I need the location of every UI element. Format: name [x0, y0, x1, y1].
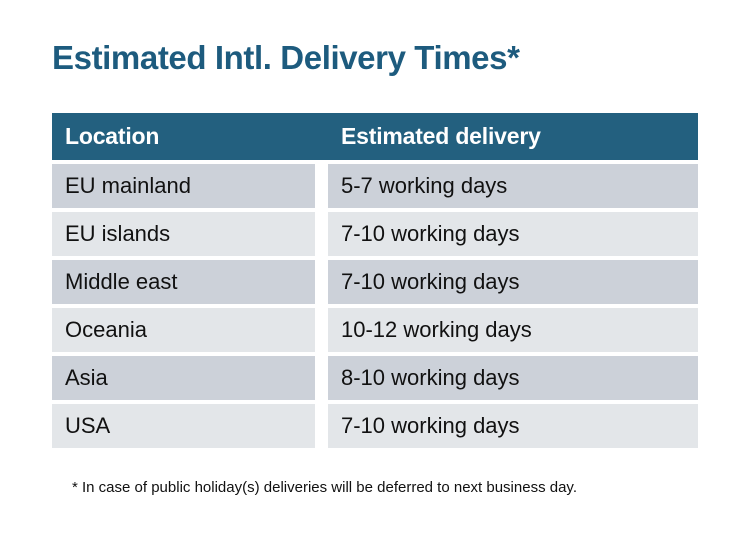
cell-location: Oceania	[52, 308, 315, 352]
column-divider	[315, 308, 328, 352]
column-divider	[315, 113, 328, 160]
cell-delivery: 10-12 working days	[328, 308, 698, 352]
table-row: EU mainland 5-7 working days	[52, 164, 692, 208]
cell-location: EU islands	[52, 212, 315, 256]
column-header-estimated-delivery: Estimated delivery	[328, 113, 698, 160]
column-header-location: Location	[52, 113, 315, 160]
cell-delivery: 8-10 working days	[328, 356, 698, 400]
cell-delivery: 5-7 working days	[328, 164, 698, 208]
table-row: USA 7-10 working days	[52, 404, 692, 448]
column-divider	[315, 260, 328, 304]
cell-delivery: 7-10 working days	[328, 260, 698, 304]
footnote-text: * In case of public holiday(s) deliverie…	[72, 478, 577, 498]
cell-delivery: 7-10 working days	[328, 404, 698, 448]
table-row: Oceania 10-12 working days	[52, 308, 692, 352]
column-divider	[315, 356, 328, 400]
column-divider	[315, 404, 328, 448]
column-divider	[315, 212, 328, 256]
cell-location: USA	[52, 404, 315, 448]
cell-location: EU mainland	[52, 164, 315, 208]
page-title: Estimated Intl. Delivery Times*	[52, 38, 520, 78]
cell-delivery: 7-10 working days	[328, 212, 698, 256]
table-row: Asia 8-10 working days	[52, 356, 692, 400]
cell-location: Asia	[52, 356, 315, 400]
column-divider	[315, 164, 328, 208]
delivery-times-page: Estimated Intl. Delivery Times* Location…	[0, 0, 745, 536]
delivery-times-table: Location Estimated delivery EU mainland …	[52, 113, 692, 448]
cell-location: Middle east	[52, 260, 315, 304]
table-row: Middle east 7-10 working days	[52, 260, 692, 304]
table-header-row: Location Estimated delivery	[52, 113, 692, 160]
table-row: EU islands 7-10 working days	[52, 212, 692, 256]
